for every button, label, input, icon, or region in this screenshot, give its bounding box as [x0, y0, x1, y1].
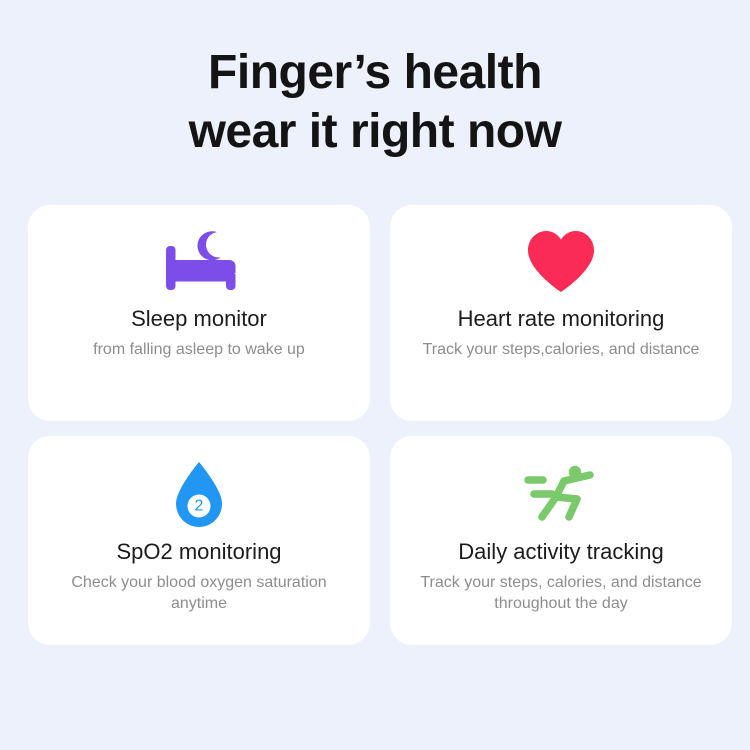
feature-card-grid: Sleep monitor from falling asleep to wak…	[28, 205, 722, 645]
feature-card-heart-rate[interactable]: Heart rate monitoring Track your steps,c…	[390, 205, 732, 421]
feature-card-spo2[interactable]: 2 SpO2 monitoring Check your blood oxyge…	[28, 436, 370, 645]
page-title: Finger’s health wear it right now	[0, 44, 750, 161]
feature-card-title: Sleep monitor	[121, 305, 277, 333]
promo-page: Finger’s health wear it right now	[0, 0, 750, 750]
heart-icon	[525, 225, 597, 299]
running-person-icon	[522, 458, 600, 532]
feature-card-description: Track your steps, calories, and distance…	[390, 572, 732, 614]
drop-badge-label: 2	[195, 498, 204, 515]
feature-card-title: Heart rate monitoring	[448, 305, 675, 333]
feature-card-description: Check your blood oxygen saturation anyti…	[28, 572, 370, 614]
feature-card-description: Track your steps,calories, and distance	[409, 339, 714, 360]
feature-card-description: from falling asleep to wake up	[79, 339, 319, 360]
feature-card-daily-activity[interactable]: Daily activity tracking Track your steps…	[390, 436, 732, 645]
feature-card-title: Daily activity tracking	[448, 538, 673, 566]
page-title-line-1: Finger’s health	[0, 44, 750, 103]
page-title-line-2: wear it right now	[0, 103, 750, 162]
water-drop-o2-icon: 2	[170, 458, 228, 532]
feature-card-title: SpO2 monitoring	[106, 538, 291, 566]
bed-moon-icon	[154, 225, 244, 299]
feature-card-sleep-monitor[interactable]: Sleep monitor from falling asleep to wak…	[28, 205, 370, 421]
